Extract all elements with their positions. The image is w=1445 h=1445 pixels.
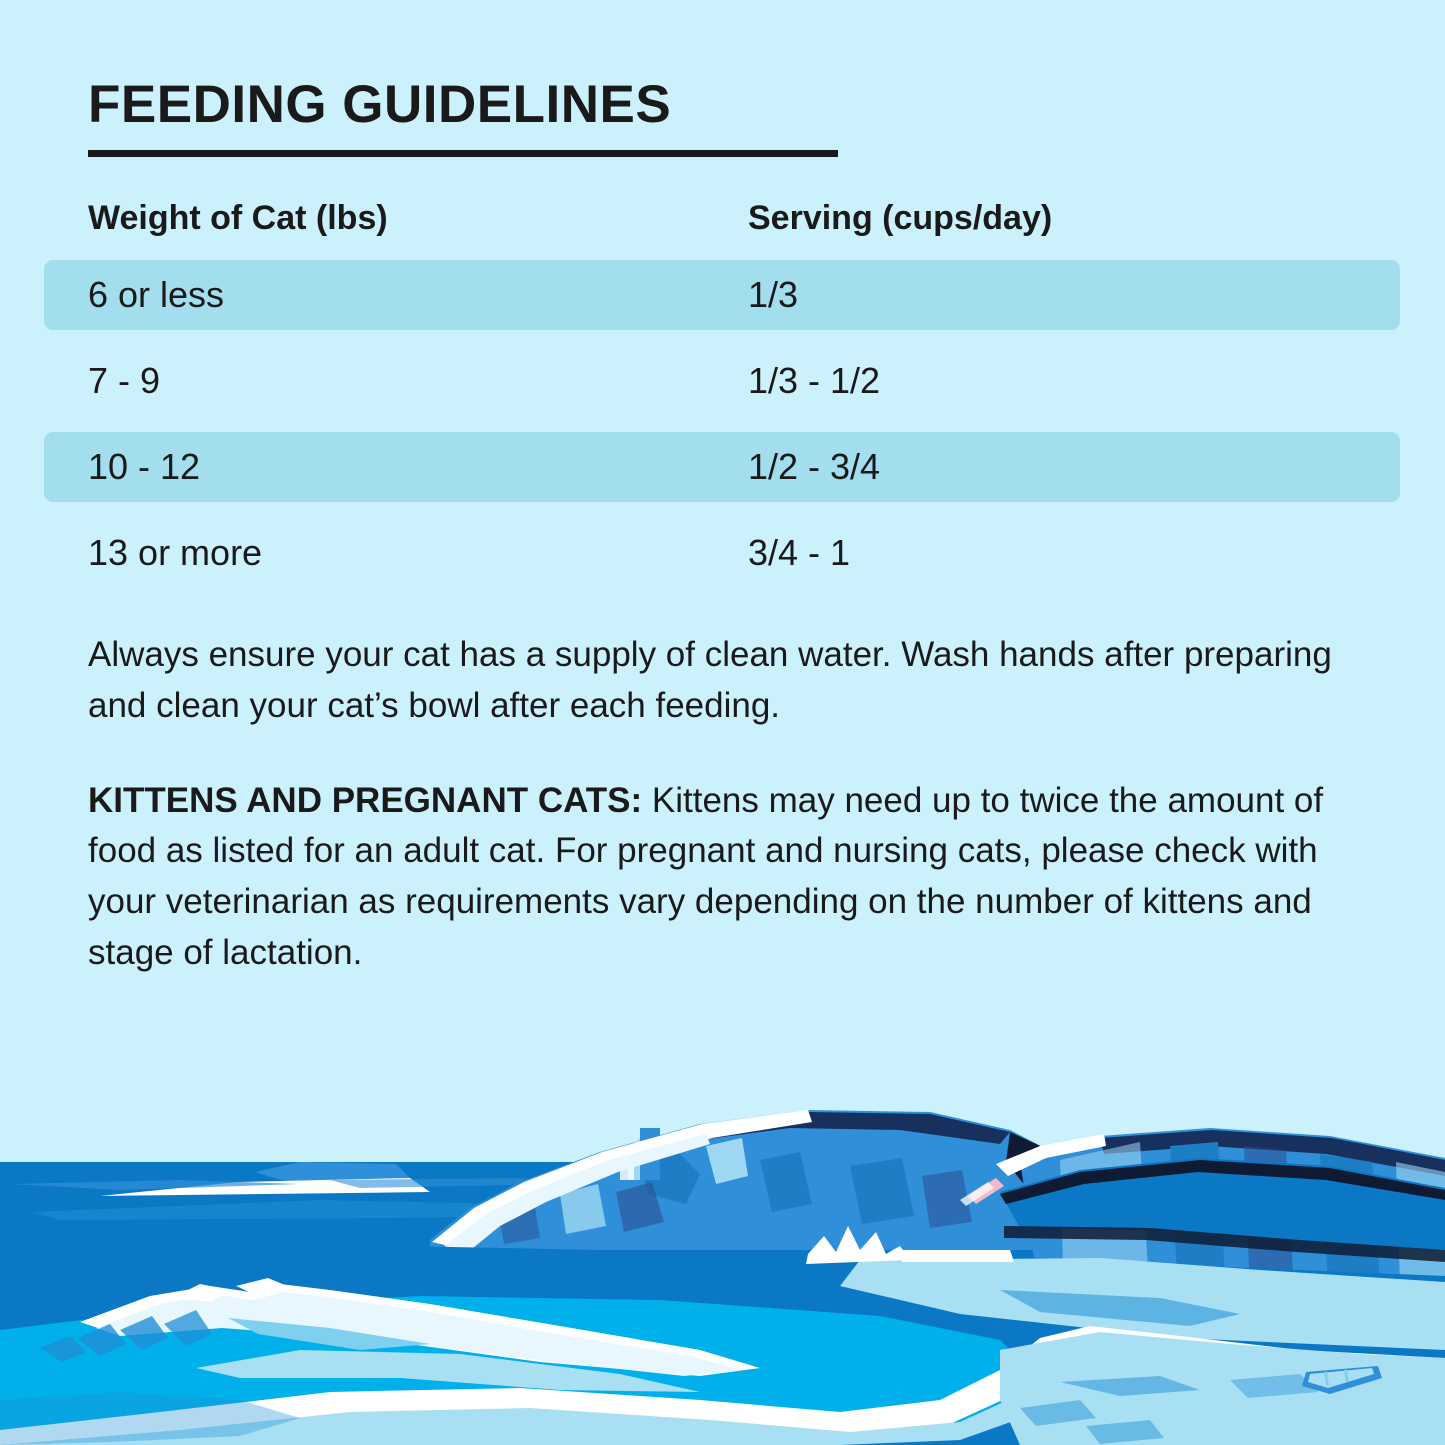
- table-row: 13 or more 3/4 - 1: [0, 510, 1445, 596]
- cell-weight: 10 - 12: [88, 446, 200, 488]
- kittens-note-paragraph: KITTENS AND PREGNANT CATS: Kittens may n…: [88, 776, 1368, 979]
- table-header-row: Weight of Cat (lbs) Serving (cups/day): [0, 184, 1445, 252]
- coastline-scene-svg: [0, 1100, 1445, 1445]
- row-stripe-band: [44, 260, 1400, 330]
- column-header-weight: Weight of Cat (lbs): [88, 199, 388, 238]
- cell-serving: 3/4 - 1: [748, 532, 850, 574]
- cell-weight: 6 or less: [88, 274, 224, 316]
- table-row: 7 - 9 1/3 - 1/2: [0, 338, 1445, 424]
- feeding-guidelines-page: FEEDING GUIDELINES Weight of Cat (lbs) S…: [0, 0, 1445, 1445]
- title-block: FEEDING GUIDELINES: [88, 78, 848, 157]
- column-header-serving: Serving (cups/day): [748, 199, 1052, 238]
- water-note-paragraph: Always ensure your cat has a supply of c…: [88, 630, 1368, 732]
- cell-weight: 13 or more: [88, 532, 262, 574]
- cell-weight: 7 - 9: [88, 360, 160, 402]
- table-row: 10 - 12 1/2 - 3/4: [0, 424, 1445, 510]
- row-stripe-band: [44, 432, 1400, 502]
- kittens-note-label: KITTENS AND PREGNANT CATS:: [88, 781, 642, 820]
- cell-serving: 1/3 - 1/2: [748, 360, 880, 402]
- cell-serving: 1/3: [748, 274, 798, 316]
- cell-serving: 1/2 - 3/4: [748, 446, 880, 488]
- page-title: FEEDING GUIDELINES: [88, 78, 848, 131]
- table-row: 6 or less 1/3: [0, 252, 1445, 338]
- notes-block: Always ensure your cat has a supply of c…: [88, 630, 1368, 979]
- title-underline-rule: [88, 150, 838, 157]
- arctic-coastline-illustration: [0, 1100, 1445, 1445]
- feeding-guidelines-table: Weight of Cat (lbs) Serving (cups/day) 6…: [0, 184, 1445, 596]
- surf-bar-right: [900, 1250, 1014, 1262]
